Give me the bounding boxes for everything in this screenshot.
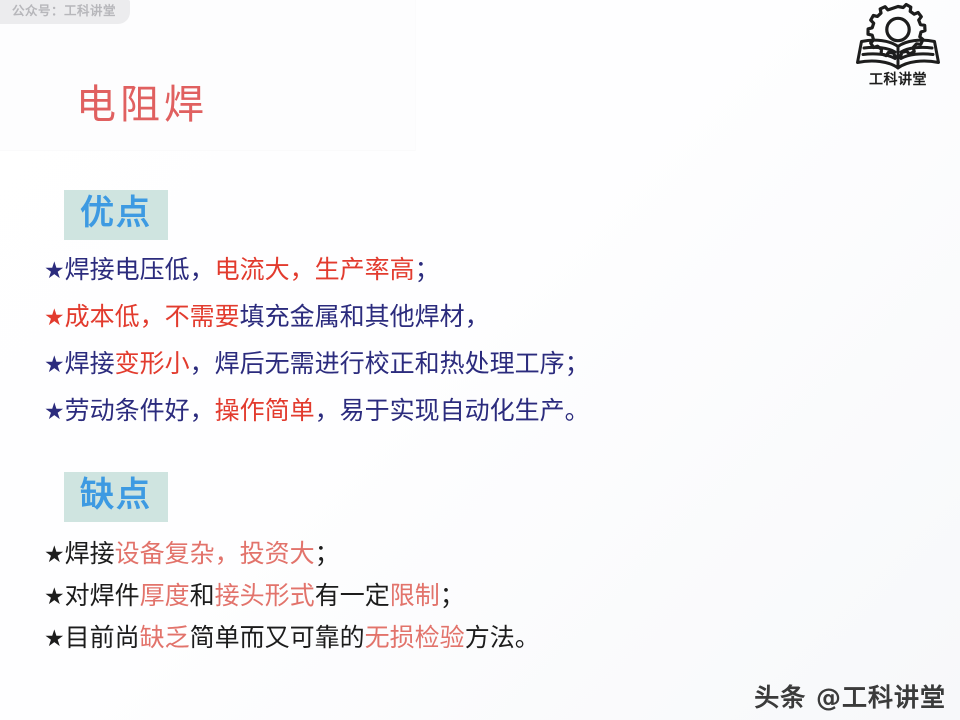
bullet-star-icon: ★ [44, 399, 65, 424]
bullet-text-run: 劳动条件好， [65, 398, 215, 425]
bullet-text-run: 设备复杂，投资大 [115, 541, 315, 568]
bullet-text-run: 成本低，不需要 [65, 304, 240, 331]
cons-bullet-list: ★焊接设备复杂，投资大；★对焊件厚度和接头形式有一定限制；★目前尚缺乏简单而又可… [44, 542, 924, 668]
bullet-text-run: ； [415, 257, 440, 284]
bullet-text-run: 焊接电压低， [65, 257, 215, 284]
bullet-star-icon: ★ [44, 626, 65, 651]
bullet-text-run: 变形小 [115, 351, 190, 378]
bullet-line: ★对焊件厚度和接头形式有一定限制； [44, 584, 924, 609]
section-header-cons: 缺点 [64, 472, 168, 522]
bullet-text-run: 限制 [390, 583, 440, 610]
slide-title: 电阻焊 [76, 82, 208, 128]
brand-logo: 工科讲堂 [850, 2, 946, 94]
bullet-line: ★焊接电压低，电流大，生产率高； [44, 258, 924, 283]
bullet-text-run: 填充金属和其他焊材， [240, 304, 490, 331]
bullet-star-icon: ★ [44, 258, 65, 283]
bullet-text-run: ； [315, 541, 340, 568]
bullet-text-run: 目前尚 [65, 625, 140, 652]
bullet-text-run: ，焊后无需进行校正和热处理工序； [190, 351, 590, 378]
bullet-text-run: 对焊件 [65, 583, 140, 610]
bullet-line: ★焊接变形小，焊后无需进行校正和热处理工序； [44, 352, 924, 377]
bullet-text-run: 和 [190, 583, 215, 610]
bullet-star-icon: ★ [44, 352, 65, 377]
bullet-text-run: 电流大，生产率高 [215, 257, 415, 284]
bullet-text-run: ； [440, 583, 465, 610]
bullet-text-run: ，易于实现自动化生产。 [315, 398, 590, 425]
bullet-text-run: 有一定 [315, 583, 390, 610]
wechat-account-badge: 公众号：工科讲堂 [0, 0, 130, 24]
bullet-line: ★焊接设备复杂，投资大； [44, 542, 924, 567]
bullet-text-run: 接头形式 [215, 583, 315, 610]
gear-over-book-icon [855, 2, 941, 72]
slide-canvas: 公众号：工科讲堂 工科讲堂 电阻焊 [0, 0, 960, 720]
bullet-star-icon: ★ [44, 305, 65, 330]
bullet-text-run: 操作简单 [215, 398, 315, 425]
bullet-text-run: 简单而又可靠的 [190, 625, 365, 652]
bullet-text-run: 无损检验 [365, 625, 465, 652]
bullet-line: ★劳动条件好，操作简单，易于实现自动化生产。 [44, 399, 924, 424]
bullet-text-run: 焊接 [65, 351, 115, 378]
bullet-text-run: 厚度 [140, 583, 190, 610]
section-header-pros: 优点 [64, 190, 168, 240]
pros-bullet-list: ★焊接电压低，电流大，生产率高；★成本低，不需要填充金属和其他焊材，★焊接变形小… [44, 258, 924, 446]
bottom-watermark: 头条 @工科讲堂 [754, 685, 946, 710]
bullet-line: ★目前尚缺乏简单而又可靠的无损检验方法。 [44, 626, 924, 651]
bullet-line: ★成本低，不需要填充金属和其他焊材， [44, 305, 924, 330]
brand-logo-text: 工科讲堂 [869, 73, 927, 87]
bullet-star-icon: ★ [44, 542, 65, 567]
bullet-text-run: 焊接 [65, 541, 115, 568]
bullet-text-run: 缺乏 [140, 625, 190, 652]
bullet-text-run: 方法。 [465, 625, 540, 652]
bullet-star-icon: ★ [44, 584, 65, 609]
